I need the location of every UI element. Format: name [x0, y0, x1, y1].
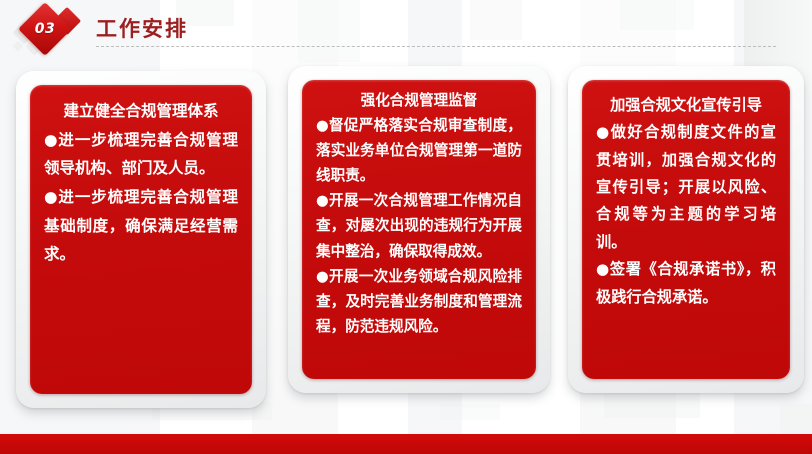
slide-canvas: 03 工作安排 建立健全合规管理体系 ●进一步梳理完善合规管理领导机构、部门及人…	[0, 0, 812, 454]
card-bullet: ●开展一次业务领域合规风险排查，及时完善业务制度和管理流程，防范违规风险。	[316, 264, 522, 339]
card-bullet: ●督促严格落实合规审查制度，落实业务单位合规管理第一道防线职责。	[316, 113, 522, 188]
card-text: 建立健全合规管理体系 ●进一步梳理完善合规管理领导机构、部门及人员。 ●进一步梳…	[30, 85, 252, 269]
card-panel: 强化合规管理监督 ●督促严格落实合规审查制度，落实业务单位合规管理第一道防线职责…	[302, 80, 536, 379]
section-number-badge: 03	[10, 2, 88, 58]
slide-header: 03 工作安排	[0, 0, 812, 60]
section-number-label: 03	[26, 10, 64, 48]
content-card-1[interactable]: 建立健全合规管理体系 ●进一步梳理完善合规管理领导机构、部门及人员。 ●进一步梳…	[16, 71, 266, 408]
card-heading: 强化合规管理监督	[316, 88, 522, 113]
card-heading: 加强合规文化宣传引导	[596, 92, 776, 119]
content-card-3[interactable]: 加强合规文化宣传引导 ●做好合规制度文件的宣贯培训，加强合规文化的宣传引导；开展…	[568, 66, 804, 393]
card-heading: 建立健全合规管理体系	[44, 97, 238, 126]
card-panel: 建立健全合规管理体系 ●进一步梳理完善合规管理领导机构、部门及人员。 ●进一步梳…	[30, 85, 252, 394]
content-card-2[interactable]: 强化合规管理监督 ●督促严格落实合规审查制度，落实业务单位合规管理第一道防线职责…	[288, 66, 550, 393]
card-bullet: ●签署《合规承诺书》，积极践行合规承诺。	[596, 256, 776, 311]
page-title: 工作安排	[96, 13, 188, 43]
footer-bar	[0, 434, 812, 454]
card-bullet: ●开展一次合规管理工作情况自查，对屡次出现的违规行为开展集中整治，确保取得成效。	[316, 188, 522, 263]
card-bullet: ●进一步梳理完善合规管理领导机构、部门及人员。	[44, 126, 238, 183]
card-bullet: ●做好合规制度文件的宣贯培训，加强合规文化的宣传引导；开展以风险、合规等为主题的…	[596, 119, 776, 256]
title-divider	[96, 46, 776, 47]
card-text: 强化合规管理监督 ●督促严格落实合规审查制度，落实业务单位合规管理第一道防线职责…	[302, 80, 536, 339]
card-bullet: ●进一步梳理完善合规管理基础制度，确保满足经营需求。	[44, 183, 238, 269]
card-panel: 加强合规文化宣传引导 ●做好合规制度文件的宣贯培训，加强合规文化的宣传引导；开展…	[582, 80, 790, 379]
card-text: 加强合规文化宣传引导 ●做好合规制度文件的宣贯培训，加强合规文化的宣传引导；开展…	[582, 80, 790, 311]
